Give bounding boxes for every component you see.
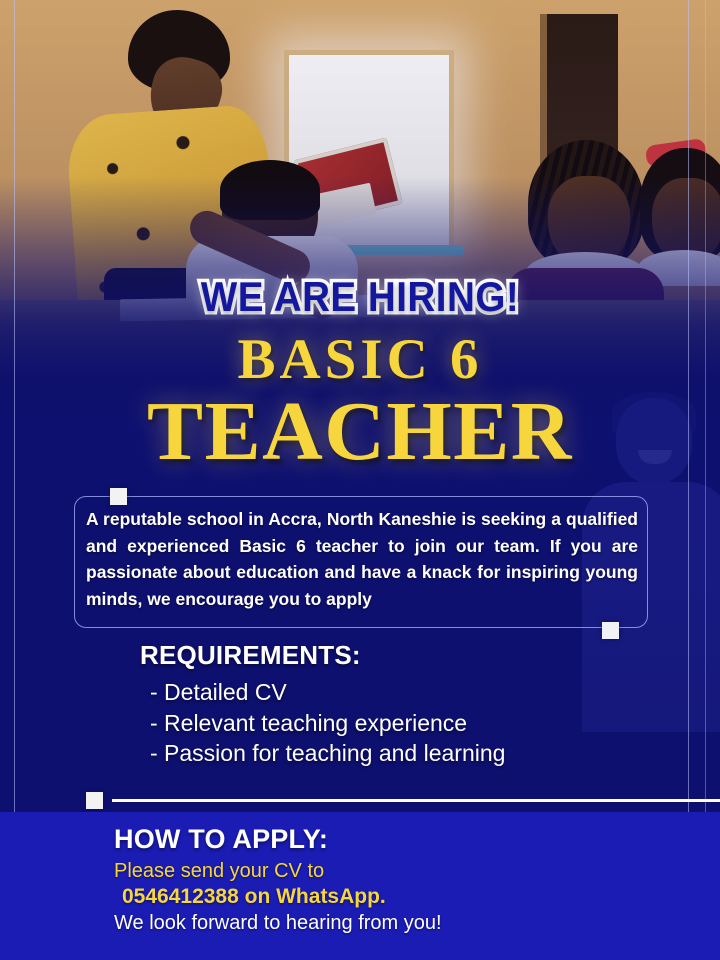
whatsapp-contact-number[interactable]: 0546412388 on WhatsApp.	[122, 885, 674, 909]
headline-block: WE ARE HIRING! BASIC 6 TEACHER	[0, 276, 720, 472]
corner-marker-square	[110, 488, 127, 505]
requirements-list: - Detailed CV - Relevant teaching experi…	[140, 677, 660, 769]
corner-marker-square	[602, 622, 619, 639]
intro-paragraph: A reputable school in Accra, North Kanes…	[86, 506, 638, 612]
role-line-basic6: BASIC 6	[0, 330, 720, 390]
list-item: - Relevant teaching experience	[150, 708, 660, 739]
apply-instruction: Please send your CV to	[114, 860, 674, 883]
apply-closing-line: We look forward to hearing from you!	[114, 912, 674, 935]
role-line-teacher: TEACHER	[0, 392, 720, 472]
requirements-section: REQUIREMENTS: - Detailed CV - Relevant t…	[140, 640, 660, 769]
corner-marker-square	[86, 792, 103, 809]
footer-divider-line	[112, 799, 720, 802]
how-to-apply-title: HOW TO APPLY:	[114, 824, 674, 855]
list-item: - Detailed CV	[150, 677, 660, 708]
hiring-flyer: WE ARE HIRING! BASIC 6 TEACHER A reputab…	[0, 0, 720, 960]
footer-content: HOW TO APPLY: Please send your CV to 054…	[114, 824, 674, 935]
requirements-title: REQUIREMENTS:	[140, 640, 660, 671]
list-item: - Passion for teaching and learning	[150, 738, 660, 769]
how-to-apply-footer: HOW TO APPLY: Please send your CV to 054…	[0, 812, 720, 960]
we-are-hiring-title: WE ARE HIRING!	[29, 276, 691, 318]
